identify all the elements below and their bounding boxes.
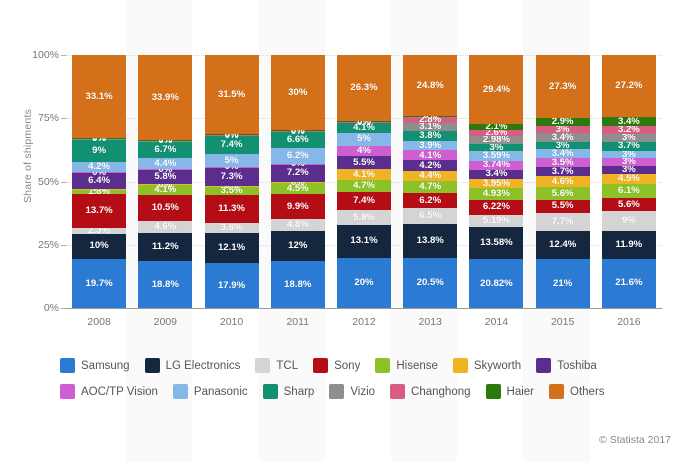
segment-value-label: 3.7% — [618, 141, 640, 151]
segment-value-label: 12% — [288, 241, 307, 251]
legend-item-sony[interactable]: Sony — [313, 358, 360, 373]
segment-value-label: 12.1% — [218, 243, 245, 253]
bar-segment[interactable]: 11.9% — [602, 231, 656, 258]
segment-value-label: 13.58% — [480, 238, 513, 248]
bar-segment[interactable]: 3.8% — [403, 131, 457, 141]
segment-value-label: 20.82% — [480, 279, 513, 289]
legend-label: Hisense — [396, 360, 438, 372]
legend-item-others[interactable]: Others — [549, 384, 605, 399]
bar-segment[interactable]: 7.7% — [536, 213, 590, 231]
bar-segment[interactable]: 4.2% — [403, 160, 457, 170]
bar-segment[interactable]: 0% — [271, 131, 325, 132]
legend-item-toshiba[interactable]: Toshiba — [536, 358, 597, 373]
legend-swatch — [549, 384, 564, 399]
segment-value-label: 10.5% — [152, 203, 179, 213]
bar-segment[interactable]: 27.3% — [536, 55, 590, 118]
bar-segment[interactable]: 24.8% — [403, 55, 457, 116]
y-tick-mark — [61, 245, 66, 246]
bar-2009[interactable]: 18.8%11.2%4.6%10.5%4.1%0%5.8%0%4.4%6.7%0… — [138, 55, 192, 308]
bar-segment[interactable]: 0% — [138, 169, 192, 170]
bar-segment[interactable]: 19.7% — [72, 259, 126, 308]
segment-value-label: 4.4% — [154, 159, 176, 169]
bar-segment[interactable]: 2.1% — [469, 124, 523, 129]
legend-item-tcl[interactable]: TCL — [255, 358, 298, 373]
segment-value-label: 5.6% — [552, 189, 574, 199]
y-axis-tick: 75% — [38, 112, 59, 124]
bar-segment[interactable]: 11.3% — [205, 195, 259, 223]
segment-value-label: 4.8% — [287, 220, 309, 230]
legend-swatch — [60, 384, 75, 399]
segment-value-label: 3.74% — [483, 160, 510, 170]
bar-segment[interactable]: 0% — [72, 138, 126, 139]
bar-segment[interactable]: 4.7% — [403, 181, 457, 193]
y-tick-mark — [61, 55, 66, 56]
bar-segment[interactable]: 0% — [205, 134, 259, 135]
segment-value-label: 11.2% — [152, 242, 179, 252]
segment-value-label: 21.6% — [615, 278, 642, 288]
legend-swatch — [390, 384, 405, 399]
x-axis-tick-2011: 2011 — [265, 316, 331, 328]
segment-value-label: 7.4% — [353, 196, 375, 206]
bar-segment[interactable]: 6.7% — [138, 141, 192, 158]
segment-value-label: 6.22% — [483, 202, 510, 212]
y-axis-label: Share of shipments — [22, 86, 34, 226]
bar-segment[interactable]: 5.6% — [536, 187, 590, 200]
bar-segment[interactable]: 3.4% — [469, 170, 523, 179]
legend-swatch — [329, 384, 344, 399]
legend-item-hisense[interactable]: Hisense — [375, 358, 438, 373]
bar-segment[interactable]: 4.5% — [602, 174, 656, 184]
segment-value-label: 27.3% — [549, 82, 576, 92]
legend-swatch — [486, 384, 501, 399]
bar-segment[interactable]: 3.6% — [205, 223, 259, 232]
bar-segment[interactable]: 13.58% — [469, 227, 523, 259]
segment-value-label: 5% — [357, 134, 371, 144]
bar-2016[interactable]: 21.6%11.9%9%5.6%6.1%4.5%3%3%3%3.7%3%3.2%… — [602, 55, 656, 308]
segment-value-label: 4.6% — [154, 222, 176, 232]
segment-value-label: 5.8% — [154, 172, 176, 182]
bar-segment[interactable]: 2.8% — [403, 116, 457, 123]
segment-value-label: 3.6% — [221, 223, 243, 233]
segment-value-label: 5.5% — [353, 158, 375, 168]
segment-value-label: 7.4% — [221, 140, 243, 150]
legend-swatch — [173, 384, 188, 399]
segment-value-label: 17.9% — [218, 281, 245, 291]
legend-item-samsung[interactable]: Samsung — [60, 358, 130, 373]
segment-value-label: 3.95% — [483, 179, 510, 189]
legend-swatch — [313, 358, 328, 373]
segment-value-label: 5.6% — [618, 200, 640, 210]
segment-value-label: 4.5% — [618, 174, 640, 184]
bar-segment[interactable]: 17.9% — [205, 263, 259, 308]
segment-value-label: 2.8% — [419, 115, 441, 125]
bar-segment[interactable]: 3.74% — [469, 161, 523, 170]
bar-segment[interactable]: 0% — [72, 172, 126, 173]
bar-segment[interactable]: 20.5% — [403, 258, 457, 308]
bar-segment[interactable]: 2.98% — [469, 136, 523, 144]
bar-segment[interactable]: 6.2% — [271, 148, 325, 164]
segment-value-label: 3% — [622, 133, 636, 143]
x-axis-tick-2016: 2016 — [596, 316, 662, 328]
chart-legend: SamsungLG ElectronicsTCLSonyHisenseSkywo… — [60, 358, 660, 399]
legend-label: Sharp — [284, 386, 315, 398]
bar-segment[interactable]: 5.5% — [337, 156, 391, 170]
bar-segment[interactable]: 18.8% — [138, 261, 192, 308]
bar-segment[interactable]: 3.1% — [403, 123, 457, 131]
legend-label: Changhong — [411, 386, 470, 398]
bar-segment[interactable]: 12.4% — [536, 231, 590, 260]
bar-segment[interactable]: 3% — [602, 151, 656, 159]
legend-label: Sony — [334, 360, 360, 372]
bar-segment[interactable]: 9% — [602, 211, 656, 232]
bar-segment[interactable]: 7.4% — [337, 192, 391, 211]
bar-segment[interactable]: 2.6% — [469, 130, 523, 137]
legend-label: Haier — [507, 386, 534, 398]
bar-segment[interactable]: 4.4% — [403, 171, 457, 182]
x-axis-tick-2010: 2010 — [198, 316, 264, 328]
legend-item-aoc-tp-vision[interactable]: AOC/TP Vision — [60, 384, 158, 399]
segment-value-label: 26.3% — [350, 83, 377, 93]
segment-value-label: 4.1% — [154, 185, 176, 195]
bar-segment[interactable]: 0% — [337, 122, 391, 123]
segment-value-label: 6.5% — [419, 211, 441, 221]
segment-value-label: 30% — [288, 88, 307, 98]
bar-segment[interactable]: 4.1% — [403, 150, 457, 160]
bar-segment[interactable]: 20.82% — [469, 259, 523, 308]
bar-segment[interactable]: 5% — [205, 154, 259, 167]
bar-segment[interactable]: 10.5% — [138, 195, 192, 221]
bar-segment[interactable]: 4.7% — [337, 180, 391, 192]
x-axis-tick-2008: 2008 — [66, 316, 132, 328]
bar-segment[interactable]: 3.4% — [602, 117, 656, 126]
bar-segment[interactable]: 26.3% — [337, 55, 391, 121]
bar-segment[interactable]: 10% — [72, 234, 126, 259]
legend-label: Skyworth — [474, 360, 521, 372]
segment-value-label: 5.8% — [353, 213, 375, 223]
segment-value-label: 18.8% — [284, 280, 311, 290]
legend-label: TCL — [276, 360, 298, 372]
bar-segment[interactable]: 0% — [138, 184, 192, 185]
bar-segment[interactable]: 11.2% — [138, 233, 192, 261]
bar-segment[interactable]: 0% — [271, 131, 325, 132]
x-axis-tick-2014: 2014 — [463, 316, 529, 328]
segment-value-label: 33.9% — [152, 93, 179, 103]
bar-segment[interactable]: 3% — [536, 142, 590, 150]
x-axis-tick-2012: 2012 — [331, 316, 397, 328]
bar-segment[interactable]: 1.8% — [72, 189, 126, 194]
segment-value-label: 9% — [622, 216, 636, 226]
bar-segment[interactable]: 3% — [602, 134, 656, 142]
bar-segment[interactable]: 4.1% — [337, 169, 391, 179]
bar-segment[interactable]: 3% — [469, 144, 523, 152]
segment-value-label: 9.9% — [287, 202, 309, 212]
bar-segment[interactable]: 18.8% — [271, 261, 325, 308]
bar-segment[interactable]: 5.5% — [536, 200, 590, 213]
bar-segment[interactable]: 9% — [72, 139, 126, 161]
segment-value-label: 7.2% — [287, 168, 309, 178]
segment-value-label: 6.7% — [154, 145, 176, 155]
segment-value-label: 5.19% — [483, 216, 510, 226]
segment-value-label: 4.1% — [353, 170, 375, 180]
legend-label: Toshiba — [557, 360, 597, 372]
bar-segment[interactable]: 0% — [403, 116, 457, 117]
bar-segment[interactable]: 0% — [138, 140, 192, 141]
segment-value-label: 3% — [556, 125, 570, 135]
bar-segment[interactable]: 6.2% — [403, 193, 457, 208]
bar-segment[interactable]: 3% — [602, 158, 656, 166]
segment-value-label: 31.5% — [218, 90, 245, 100]
bar-segment[interactable]: 6.5% — [403, 208, 457, 224]
bar-segment[interactable]: 12% — [271, 231, 325, 261]
segment-value-label: 2.98% — [483, 135, 510, 145]
bar-segment[interactable]: 3.7% — [602, 142, 656, 151]
bar-2008[interactable]: 19.7%10%2.3%13.7%1.8%0%6.4%0%4.2%9%0%0%0… — [72, 55, 126, 308]
y-tick-mark — [61, 182, 66, 183]
segment-value-label: 3% — [490, 143, 504, 153]
segment-value-label: 12.4% — [549, 240, 576, 250]
segment-value-label: 10% — [90, 241, 109, 251]
bar-segment[interactable]: 13.8% — [403, 224, 457, 258]
bar-segment[interactable]: 5.19% — [469, 215, 523, 227]
segment-value-label: 6.1% — [618, 186, 640, 196]
bar-2010[interactable]: 17.9%12.1%3.6%11.3%3.5%0%7.3%0%5%7.4%0%0… — [205, 55, 259, 308]
segment-value-label: 29.4% — [483, 85, 510, 95]
segment-value-label: 3% — [622, 150, 636, 160]
bar-segment[interactable]: 0% — [271, 182, 325, 183]
x-axis-tick-2013: 2013 — [397, 316, 463, 328]
bar-2013[interactable]: 20.5%13.8%6.5%6.2%4.7%4.4%4.2%4.1%3.9%3.… — [403, 55, 457, 308]
segment-value-label: 13.8% — [417, 236, 444, 246]
bar-segment[interactable]: 0% — [205, 167, 259, 168]
segment-value-label: 33.1% — [86, 92, 113, 102]
segment-value-label: 5% — [225, 156, 239, 166]
bar-segment[interactable]: 6.4% — [72, 173, 126, 189]
segment-value-label: 11.9% — [616, 240, 643, 250]
segment-value-label: 3.4% — [552, 133, 574, 143]
bar-2014[interactable]: 20.82%13.58%5.19%6.22%4.93%3.95%3.4%3.74… — [469, 55, 523, 308]
bar-segment[interactable]: 4.8% — [271, 219, 325, 231]
legend-label: Panasonic — [194, 386, 248, 398]
y-axis-tick: 100% — [32, 49, 59, 61]
legend-label: Vizio — [350, 386, 375, 398]
bar-segment[interactable]: 3.5% — [205, 186, 259, 195]
bar-segment[interactable]: 30% — [271, 55, 325, 130]
bar-2011[interactable]: 18.8%12%4.8%9.9%4.5%0%7.2%0%6.2%6.6%0%0%… — [271, 55, 325, 308]
bar-segment[interactable]: 2.3% — [72, 228, 126, 234]
bar-segment[interactable]: 3% — [536, 126, 590, 134]
bar-segment[interactable]: 3% — [602, 166, 656, 174]
segment-value-label: 13.1% — [350, 236, 377, 246]
bar-segment[interactable]: 3.9% — [403, 141, 457, 151]
segment-value-label: 4.2% — [419, 161, 441, 171]
bar-segment[interactable]: 3.7% — [536, 167, 590, 176]
bar-segment[interactable]: 0% — [138, 141, 192, 142]
bar-segment[interactable]: 7.3% — [205, 167, 259, 185]
bar-segment[interactable]: 3.59% — [469, 151, 523, 160]
segment-value-label: 20.5% — [417, 278, 444, 288]
legend-label: Samsung — [81, 360, 130, 372]
segment-value-label: 6.2% — [419, 196, 441, 206]
segment-value-label: 3.5% — [221, 186, 243, 196]
bar-segment[interactable]: 4.1% — [138, 185, 192, 195]
bar-segment[interactable]: 20% — [337, 258, 391, 308]
bar-segment[interactable]: 21% — [536, 259, 590, 308]
legend-item-haier[interactable]: Haier — [486, 384, 534, 399]
segment-value-label: 3.4% — [552, 149, 574, 159]
segment-value-label: 3.7% — [552, 167, 574, 177]
segment-value-label: 5.5% — [552, 201, 574, 211]
bar-2015[interactable]: 21%12.4%7.7%5.5%5.6%4.6%3.7%3.5%3.4%3%3.… — [536, 55, 590, 308]
segment-value-label: 4% — [357, 146, 371, 156]
bar-segment[interactable]: 0% — [72, 139, 126, 140]
segment-value-label: 4.1% — [353, 123, 375, 133]
bar-segment[interactable]: 3.2% — [602, 126, 656, 134]
bar-segment[interactable]: 5.6% — [602, 198, 656, 211]
segment-value-label: 27.2% — [615, 81, 642, 91]
bar-segment[interactable]: 4% — [337, 146, 391, 156]
bar-segment[interactable]: 0% — [271, 164, 325, 165]
bar-segment[interactable]: 0% — [205, 186, 259, 187]
bar-segment[interactable]: 4.5% — [271, 183, 325, 194]
segment-value-label: 3.1% — [419, 122, 441, 132]
bar-segment[interactable]: 6.1% — [602, 184, 656, 198]
bar-segment[interactable]: 6.6% — [271, 132, 325, 149]
segment-value-label: 4.2% — [88, 162, 110, 172]
y-tick-mark — [61, 308, 66, 309]
segment-value-label: 4.4% — [419, 171, 441, 181]
bar-segment[interactable]: 4.6% — [138, 221, 192, 233]
segment-value-label: 7.3% — [221, 172, 243, 182]
x-axis-tick-2009: 2009 — [132, 316, 198, 328]
segment-value-label: 21% — [553, 279, 572, 289]
bar-segment[interactable]: 6.22% — [469, 200, 523, 215]
segment-value-label: 3.8% — [419, 131, 441, 141]
y-axis-tick: 50% — [38, 176, 59, 188]
y-axis-tick: 25% — [38, 239, 59, 251]
bar-segment[interactable]: 0% — [138, 140, 192, 141]
bar-segment[interactable]: 0% — [72, 189, 126, 190]
segment-value-label: 20% — [354, 278, 373, 288]
segment-value-label: 3.59% — [483, 151, 510, 161]
segment-value-label: 4.1% — [419, 151, 441, 161]
bar-segment[interactable]: 0% — [271, 130, 325, 131]
copyright-credit: © Statista 2017 — [599, 434, 671, 446]
bar-segment[interactable]: 4.6% — [536, 176, 590, 187]
legend-label: Others — [570, 386, 605, 398]
legend-item-changhong[interactable]: Changhong — [390, 384, 470, 399]
segment-value-label: 4.6% — [552, 177, 574, 187]
segment-value-label: 3.9% — [419, 141, 441, 151]
bar-segment[interactable]: 31.5% — [205, 55, 259, 134]
legend-label: LG Electronics — [166, 360, 241, 372]
y-axis-tick: 0% — [44, 302, 59, 314]
bar-segment[interactable]: 13.1% — [337, 225, 391, 258]
segment-value-label: 6.6% — [287, 135, 309, 145]
segment-value-label: 3% — [622, 165, 636, 175]
bar-segment[interactable]: 5.8% — [337, 210, 391, 225]
legend-item-skyworth[interactable]: Skyworth — [453, 358, 521, 373]
bar-segment[interactable]: 27.2% — [602, 55, 656, 117]
segment-value-label: 18.8% — [152, 280, 179, 290]
bar-segment[interactable]: 9.9% — [271, 194, 325, 219]
segment-value-label: 4.93% — [483, 189, 510, 199]
legend-swatch — [536, 358, 551, 373]
bar-segment[interactable]: 0% — [205, 135, 259, 136]
bar-segment[interactable]: 3.4% — [536, 149, 590, 158]
y-tick-mark — [61, 118, 66, 119]
plot-area: 0%25%50%75%100%19.7%10%2.3%13.7%1.8%0%6.… — [66, 55, 662, 308]
segment-value-label: 7.7% — [552, 217, 574, 227]
bar-segment[interactable]: 0% — [205, 135, 259, 136]
bar-segment[interactable]: 3.4% — [536, 133, 590, 142]
bar-segment[interactable]: 3.5% — [536, 158, 590, 167]
legend-swatch — [255, 358, 270, 373]
legend-swatch — [60, 358, 75, 373]
segment-value-label: 6.4% — [88, 176, 110, 186]
segment-value-label: 3% — [622, 157, 636, 167]
bar-segment[interactable]: 4.4% — [138, 158, 192, 169]
segment-value-label: 4.7% — [353, 181, 375, 191]
legend-item-sharp[interactable]: Sharp — [263, 384, 315, 399]
segment-value-label: 11.3% — [218, 204, 245, 214]
gridline — [66, 308, 662, 309]
segment-value-label: 3.2% — [618, 125, 640, 135]
segment-value-label: 3.5% — [552, 158, 574, 168]
bar-segment[interactable]: 4.2% — [72, 162, 126, 173]
bar-segment[interactable]: 7.2% — [271, 164, 325, 182]
segment-value-label: 3% — [556, 141, 570, 151]
bar-segment[interactable]: 5% — [337, 133, 391, 146]
bar-segment[interactable]: 29.4% — [469, 55, 523, 124]
bar-segment[interactable]: 7.4% — [205, 136, 259, 155]
bar-segment[interactable]: 2.9% — [536, 118, 590, 125]
segment-value-label: 4.5% — [287, 184, 309, 194]
legend-item-lg-electronics[interactable]: LG Electronics — [145, 358, 241, 373]
bar-segment[interactable]: 33.9% — [138, 55, 192, 140]
segment-value-label: 24.8% — [417, 81, 444, 91]
segment-value-label: 4.7% — [419, 182, 441, 192]
x-axis-tick-2015: 2015 — [530, 316, 596, 328]
legend-swatch — [145, 358, 160, 373]
segment-value-label: 3.4% — [618, 117, 640, 127]
segment-value-label: 19.7% — [86, 279, 113, 289]
legend-swatch — [453, 358, 468, 373]
stacked-bar-chart: Share of shipments 0%25%50%75%100%19.7%1… — [0, 0, 693, 462]
bar-segment[interactable]: 4.1% — [337, 123, 391, 133]
segment-value-label: 9% — [92, 146, 106, 156]
bar-segment[interactable]: 21.6% — [602, 259, 656, 308]
bar-segment[interactable]: 0% — [337, 122, 391, 123]
bar-segment[interactable]: 5.8% — [138, 170, 192, 185]
legend-swatch — [263, 384, 278, 399]
legend-item-vizio[interactable]: Vizio — [329, 384, 375, 399]
bar-segment[interactable]: 0% — [337, 121, 391, 122]
segment-value-label: 13.7% — [86, 206, 113, 216]
bar-segment[interactable]: 4.93% — [469, 188, 523, 200]
segment-value-label: 6.2% — [287, 151, 309, 161]
legend-swatch — [375, 358, 390, 373]
bar-segment[interactable]: 33.1% — [72, 55, 126, 138]
legend-item-panasonic[interactable]: Panasonic — [173, 384, 248, 399]
bar-2012[interactable]: 20%13.1%5.8%7.4%4.7%4.1%5.5%4%5%4.1%0%0%… — [337, 55, 391, 308]
segment-value-label: 3.4% — [486, 169, 508, 179]
bar-segment[interactable]: 0% — [72, 138, 126, 139]
bar-segment[interactable]: 12.1% — [205, 233, 259, 263]
bar-segment[interactable]: 3.95% — [469, 179, 523, 189]
legend-label: AOC/TP Vision — [81, 386, 158, 398]
bar-segment[interactable]: 13.7% — [72, 194, 126, 228]
segment-value-label: 2.9% — [552, 117, 574, 127]
